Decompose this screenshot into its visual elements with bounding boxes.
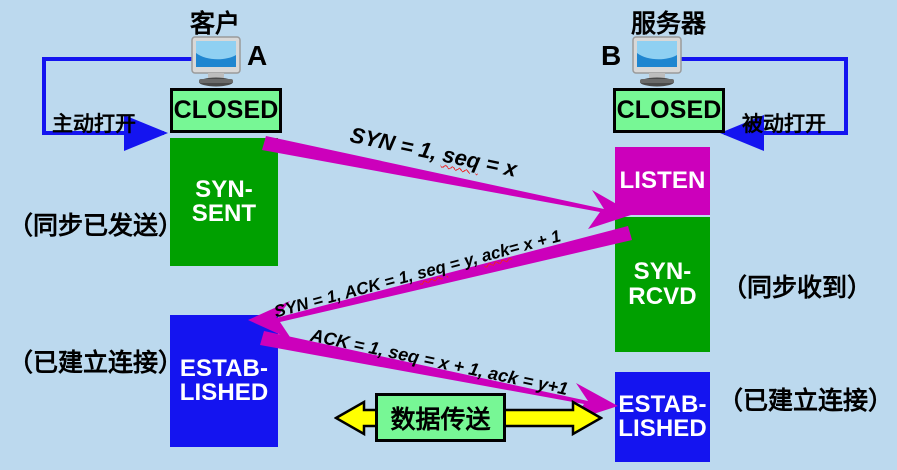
- server-state-established[interactable]: ESTAB- LISHED: [615, 372, 710, 462]
- active-open-label: 主动打开: [52, 108, 136, 138]
- client-state-syn-sent[interactable]: SYN- SENT: [170, 138, 278, 266]
- tcp-handshake-diagram: 客户 服务器 A B 主动打开 被动打开 CLOSED SYN- SENT ES…: [0, 0, 897, 470]
- client-state-established[interactable]: ESTAB- LISHED: [170, 315, 278, 447]
- server-letter: B: [601, 40, 621, 72]
- client-established-annotation: （已建立连接）: [8, 343, 183, 379]
- monitor-icon: [631, 36, 685, 88]
- data-transfer-box[interactable]: 数据传送: [375, 393, 506, 442]
- segment-label-syn-ack-part-4: = x + 1: [507, 226, 563, 258]
- server-state-listen[interactable]: LISTEN: [615, 147, 710, 215]
- segment-label-ack-part-0: ACK = 1, seq = x + 1, ack = y+1: [309, 325, 570, 399]
- server-syn-rcvd-annotation: （同步收到）: [722, 268, 872, 304]
- segment-label-ack: ACK = 1, seq = x + 1, ack = y+1: [309, 325, 570, 400]
- monitor-icon: [190, 36, 244, 88]
- segment-label-syn: SYN = 1, seq = x: [348, 122, 520, 183]
- client-syn-sent-annotation: （同步已发送）: [8, 206, 183, 242]
- segment-label-syn-part-2: = x: [478, 150, 520, 182]
- segment-arrow-syn-ack: [248, 226, 632, 340]
- segment-label-syn-ack-part-1: seq: [415, 257, 448, 283]
- segment-label-syn-ack: SYN = 1, ACK = 1, seq = y, ack= x + 1: [272, 226, 563, 322]
- client-state-closed[interactable]: CLOSED: [170, 88, 282, 133]
- server-state-syn-rcvd[interactable]: SYN- RCVD: [615, 217, 710, 352]
- segment-label-syn-ack-part-0: SYN = 1, ACK = 1,: [272, 265, 420, 322]
- server-state-closed[interactable]: CLOSED: [613, 88, 725, 133]
- data-transfer-right-arrow: [497, 396, 603, 440]
- server-title: 服务器: [631, 4, 706, 40]
- server-established-annotation: （已建立连接）: [718, 381, 893, 417]
- segment-label-syn-ack-part-2: = y,: [443, 247, 484, 275]
- passive-open-label: 被动打开: [742, 108, 826, 138]
- segment-label-syn-part-0: SYN = 1,: [348, 122, 446, 166]
- segment-label-syn-part-1: seq: [441, 142, 483, 174]
- client-title: 客户: [190, 4, 240, 40]
- client-letter: A: [247, 40, 267, 72]
